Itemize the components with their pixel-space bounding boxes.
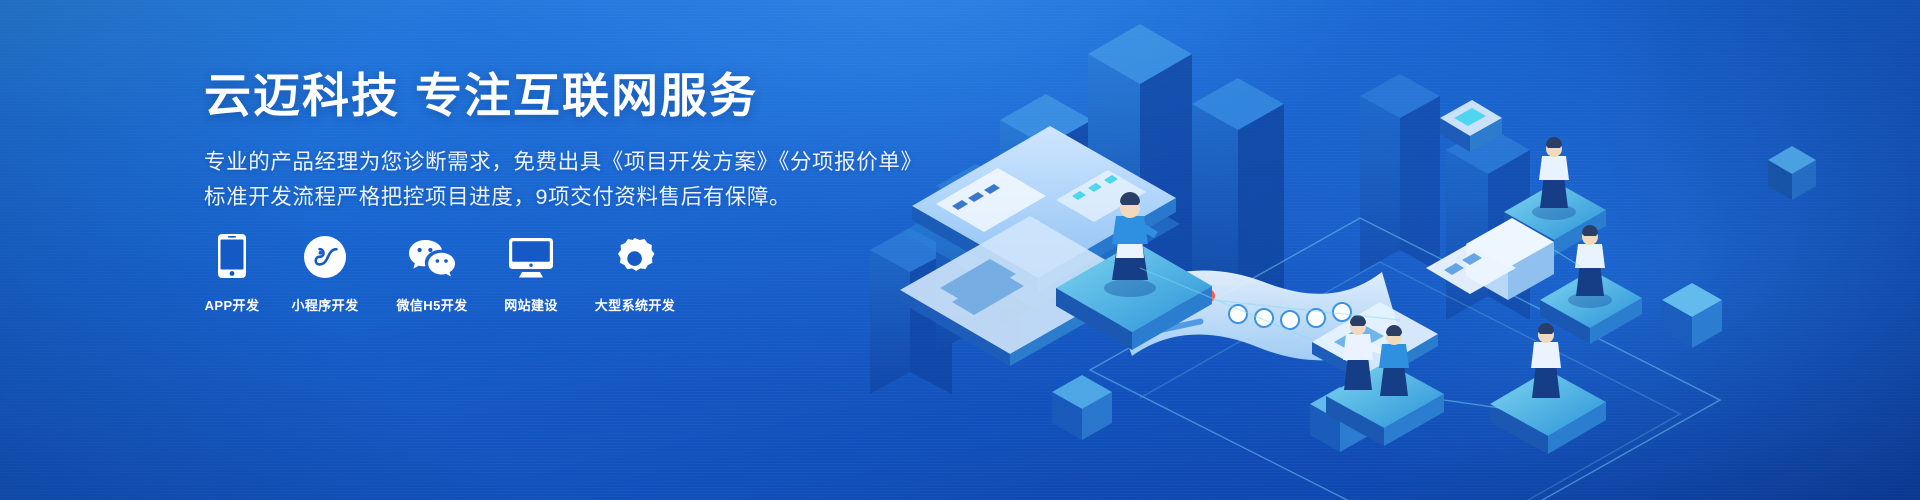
service-item-website[interactable]: 网站建设: [498, 232, 564, 314]
isometric-illustration: [840, 0, 1920, 500]
service-label: APP开发: [205, 295, 260, 314]
page-title: 云迈科技 专注互联网服务: [204, 68, 923, 123]
subtitle-line-1: 专业的产品经理为您诊断需求，免费出具《项目开发方案》《分项报价单》: [204, 145, 923, 180]
wechat-icon: [408, 232, 456, 278]
service-item-wechat-h5[interactable]: 微信H5开发: [390, 232, 474, 314]
service-label: 小程序开发: [291, 295, 358, 314]
desktop-monitor-icon: [509, 232, 553, 278]
subtitle-line-2: 标准开发流程严格把控项目进度，9项交付资料售后有保障。: [204, 180, 923, 215]
service-item-app[interactable]: APP开发: [204, 232, 260, 314]
service-label: 网站建设: [504, 295, 558, 314]
service-label: 微信H5开发: [396, 295, 467, 314]
mini-program-icon: [304, 232, 346, 278]
hero-banner: 云迈科技 专注互联网服务 专业的产品经理为您诊断需求，免费出具《项目开发方案》《…: [0, 0, 1920, 500]
service-list: APP开发 小程序开发: [204, 232, 682, 314]
service-item-large-system[interactable]: 大型系统开发: [588, 232, 682, 314]
hero-copy: 云迈科技 专注互联网服务 专业的产品经理为您诊断需求，免费出具《项目开发方案》《…: [204, 68, 923, 215]
mobile-phone-icon: [218, 232, 246, 278]
gear-icon: [614, 232, 656, 278]
service-label: 大型系统开发: [595, 295, 675, 314]
service-item-mini-program[interactable]: 小程序开发: [284, 232, 366, 314]
